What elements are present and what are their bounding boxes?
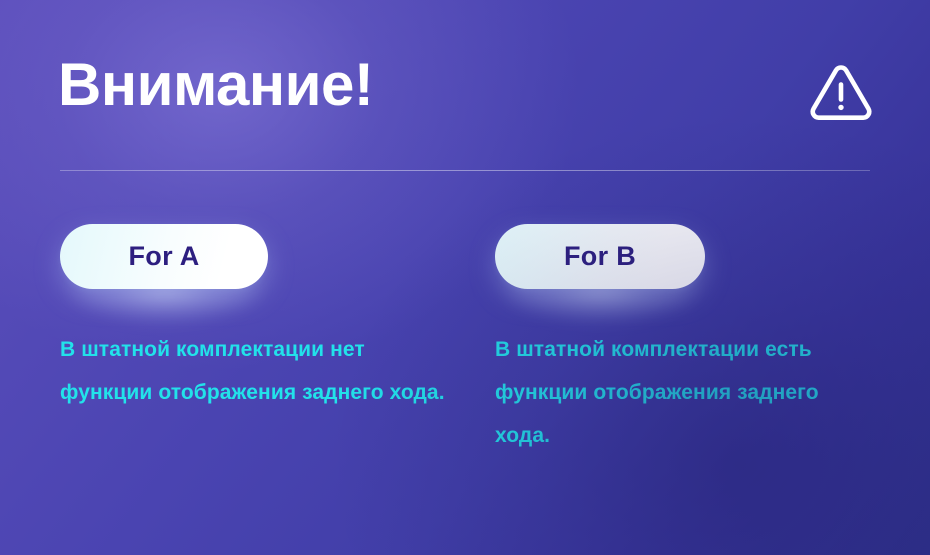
for-b-button[interactable]: For B [495, 224, 705, 289]
option-b-description: В штатной комплектации есть функции отоб… [495, 328, 877, 457]
option-a-description: В штатной комплектации нет функции отобр… [60, 328, 445, 414]
header-divider [60, 170, 870, 171]
warning-slide: Внимание! For A В штатной комплектации н… [0, 0, 930, 555]
pill-wrap-a: For A [60, 214, 452, 306]
warning-triangle-icon [808, 60, 874, 126]
option-column-a: For A В штатной комплектации нет функции… [60, 214, 452, 306]
option-column-b: For B В штатной комплектации есть функци… [495, 214, 887, 306]
page-title: Внимание! [58, 52, 373, 118]
pill-wrap-b: For B [495, 214, 887, 306]
for-a-button[interactable]: For A [60, 224, 268, 289]
